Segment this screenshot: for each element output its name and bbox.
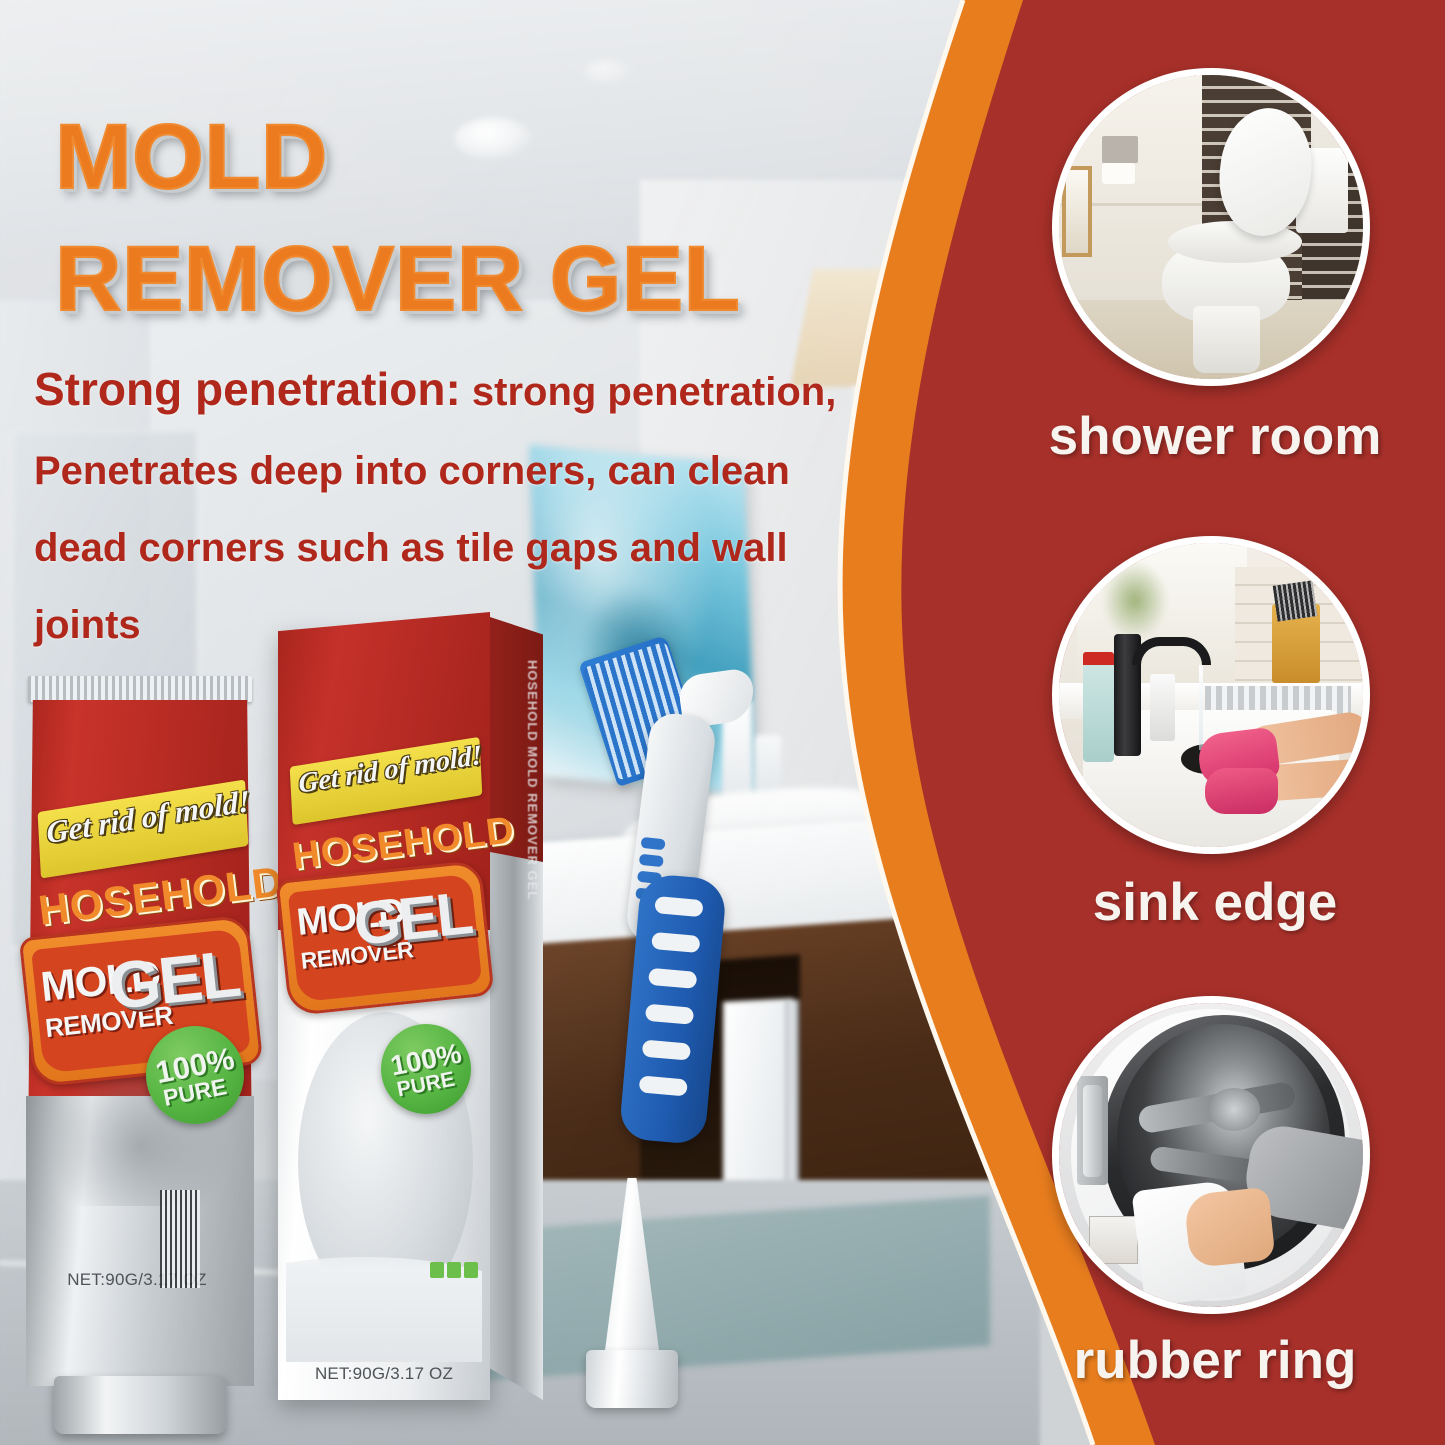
toilet-paper-holder bbox=[1102, 136, 1138, 163]
use-case-photo-shower-room bbox=[1052, 68, 1370, 386]
kitchen-sink-photo bbox=[1059, 543, 1363, 847]
toilet-photo bbox=[1059, 75, 1363, 379]
product-box: HOSEHOLD MOLD REMOVER GEL Get rid of mol… bbox=[278, 612, 543, 1412]
nozzle-base bbox=[586, 1350, 678, 1408]
copy-lead-rest: strong penetration, bbox=[461, 370, 837, 414]
copy-line-1: Strong penetration: strong penetration, bbox=[34, 345, 974, 433]
applicator-nozzle-cap bbox=[572, 1178, 692, 1410]
faucet-spout bbox=[1132, 637, 1211, 664]
copy-lead: Strong penetration: bbox=[34, 363, 461, 415]
window bbox=[1062, 166, 1092, 257]
box-side-instructions bbox=[496, 902, 540, 1372]
spray-bottle bbox=[1083, 659, 1113, 762]
page-title: MOLD REMOVER GEL bbox=[55, 96, 815, 341]
product-name-gel: GEL bbox=[106, 935, 243, 1024]
tube-net-weight: NET:90G/3.17 OZ bbox=[12, 1270, 262, 1290]
running-water bbox=[1199, 665, 1203, 750]
product-marketing-image: MOLD REMOVER GEL Strong penetration: str… bbox=[0, 0, 1445, 1445]
use-case-photo-sink-edge bbox=[1052, 536, 1370, 854]
washing-machine-photo bbox=[1059, 1003, 1363, 1307]
box-net-weight: NET:90G/3.17 OZ bbox=[278, 1364, 490, 1384]
product-name-gel: GEL bbox=[350, 878, 474, 959]
box-side-brand-text: HOSEHOLD MOLD REMOVER GEL bbox=[496, 660, 540, 900]
soap-dispenser bbox=[1150, 674, 1174, 741]
window-greenery bbox=[1102, 561, 1169, 640]
knives bbox=[1272, 580, 1316, 622]
purity-badge: 100% PURE bbox=[146, 1026, 244, 1124]
headline-line-2: REMOVER GEL bbox=[55, 218, 815, 340]
copy-line-2: Penetrates deep into corners, can clean bbox=[34, 433, 974, 510]
product-name-shield: MOLD REMOVER GEL bbox=[275, 860, 494, 1017]
purity-badge: 100% PURE bbox=[381, 1024, 471, 1114]
tube-crimp-seal bbox=[28, 676, 252, 702]
drum-hub bbox=[1208, 1088, 1260, 1131]
toilet-paper-roll bbox=[1102, 163, 1135, 184]
product-tube: Get rid of mold! HOSEHOLD MOLD REMOVER G… bbox=[12, 676, 262, 1436]
tube-lower-silver bbox=[26, 1096, 254, 1386]
barcode bbox=[160, 1190, 200, 1288]
use-case-label-rubber-ring: rubber ring bbox=[1005, 1330, 1425, 1391]
pink-rubber-glove bbox=[1205, 768, 1278, 814]
use-case-label-sink-edge: sink edge bbox=[1005, 872, 1425, 933]
copy-line-3: dead corners such as tile gaps and wall bbox=[34, 510, 974, 587]
use-case-label-shower-room: shower room bbox=[1005, 406, 1425, 467]
hand bbox=[1183, 1187, 1275, 1268]
warning-label bbox=[1089, 1216, 1138, 1265]
cleaning-brush bbox=[576, 640, 766, 1200]
nozzle-cone bbox=[604, 1178, 660, 1358]
toilet-pedestal bbox=[1193, 306, 1260, 373]
door-hinge bbox=[1077, 1076, 1107, 1185]
use-case-photo-rubber-ring bbox=[1052, 996, 1370, 1314]
tube-cap bbox=[54, 1376, 226, 1434]
recycle-marks bbox=[430, 1262, 478, 1278]
headline-line-1: MOLD bbox=[55, 96, 815, 218]
spray-bottle-cap bbox=[1083, 652, 1113, 664]
